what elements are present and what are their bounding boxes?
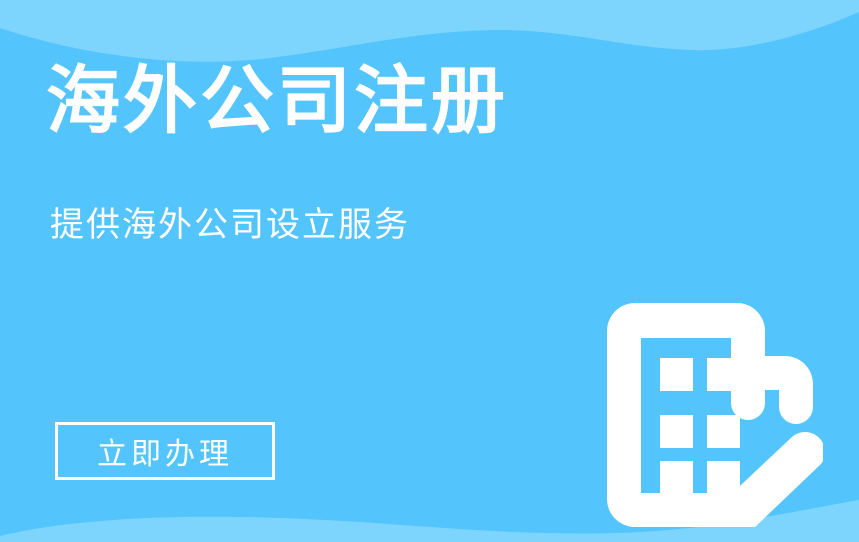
building-window [660,358,693,391]
building-window [707,358,740,391]
building-window [707,415,740,448]
apply-now-button[interactable]: 立即办理 [55,422,275,480]
building-window [660,461,693,494]
page-title: 海外公司注册 [46,62,508,140]
page-subtitle: 提供海外公司设立服务 [50,205,410,246]
overseas-company-registration-banner: 海外公司注册 提供海外公司设立服务 立即办理 [0,0,859,542]
building-window [707,461,740,494]
building-window [660,415,693,448]
top-wave-shape [0,0,859,62]
building-registration-icon [607,303,823,528]
